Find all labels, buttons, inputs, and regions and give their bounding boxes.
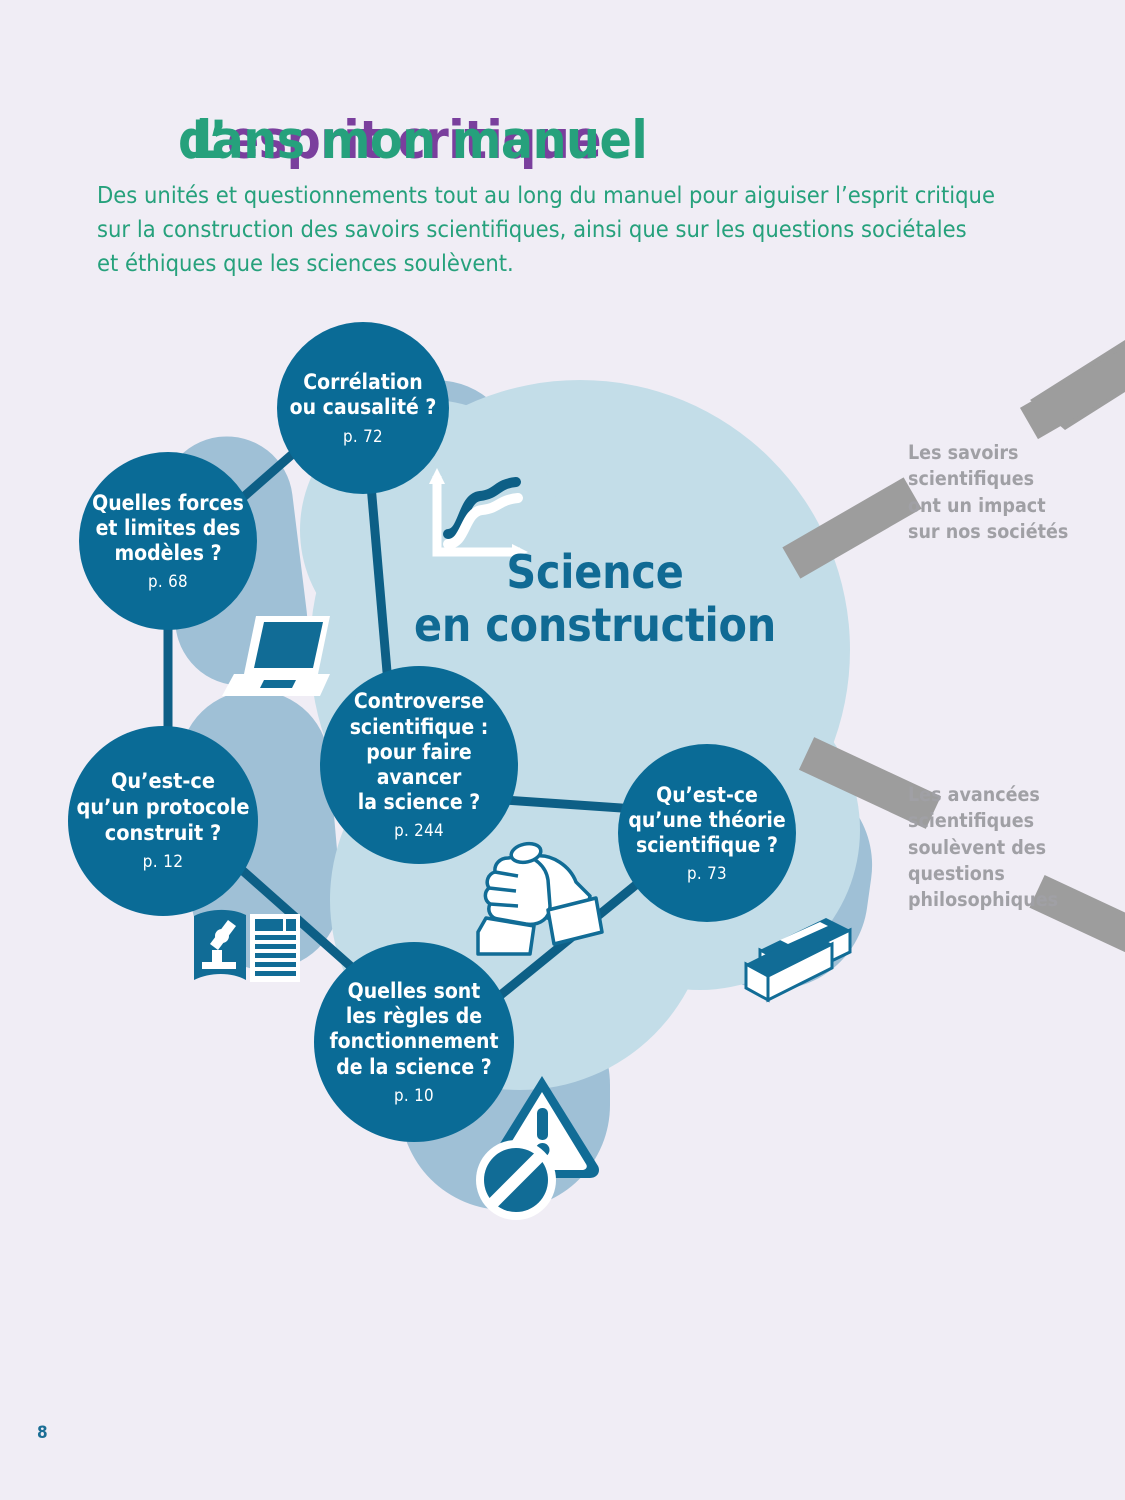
page-number: 8: [37, 1423, 48, 1443]
node-theorie-page: p. 73: [687, 863, 727, 883]
node-modeles[interactable]: Quelles forces et limites des modèles ? …: [79, 452, 257, 630]
side-caption-philosophiques: Les avancées scientifiques soulèvent des…: [908, 782, 1118, 914]
node-regles-label: Quelles sont les règles de fonctionnemen…: [329, 979, 498, 1080]
node-correlation-label: Corrélation ou causalité ?: [290, 370, 437, 420]
node-controverse-label: Controverse scientifique : pour faire av…: [350, 689, 489, 815]
node-theorie[interactable]: Qu’est-ce qu’une théorie scientifique ? …: [618, 744, 796, 922]
center-label: Science en construction: [385, 546, 805, 653]
node-protocole-label: Qu’est-ce qu’un protocole construit ?: [77, 769, 250, 846]
node-correlation-page: p. 72: [343, 426, 383, 446]
node-correlation[interactable]: Corrélation ou causalité ? p. 72: [277, 322, 449, 494]
node-controverse[interactable]: Controverse scientifique : pour faire av…: [320, 666, 518, 864]
node-theorie-label: Qu’est-ce qu’une théorie scientifique ?: [628, 783, 785, 859]
diagram-canvas: Science en construction Corrélation ou c…: [0, 0, 1125, 1500]
node-modeles-label: Quelles forces et limites des modèles ?: [92, 491, 244, 567]
node-protocole[interactable]: Qu’est-ce qu’un protocole construit ? p.…: [68, 726, 258, 916]
node-modeles-page: p. 68: [148, 571, 188, 591]
node-protocole-page: p. 12: [143, 852, 184, 873]
side-caption-societes: Les savoirs scientifiques ont un impact …: [908, 440, 1118, 545]
node-controverse-page: p. 244: [394, 820, 444, 840]
node-regles[interactable]: Quelles sont les règles de fonctionnemen…: [314, 942, 514, 1142]
page-root: L’esprit critique dans mon manuel Des un…: [0, 0, 1125, 1500]
node-regles-page: p. 10: [394, 1085, 434, 1105]
